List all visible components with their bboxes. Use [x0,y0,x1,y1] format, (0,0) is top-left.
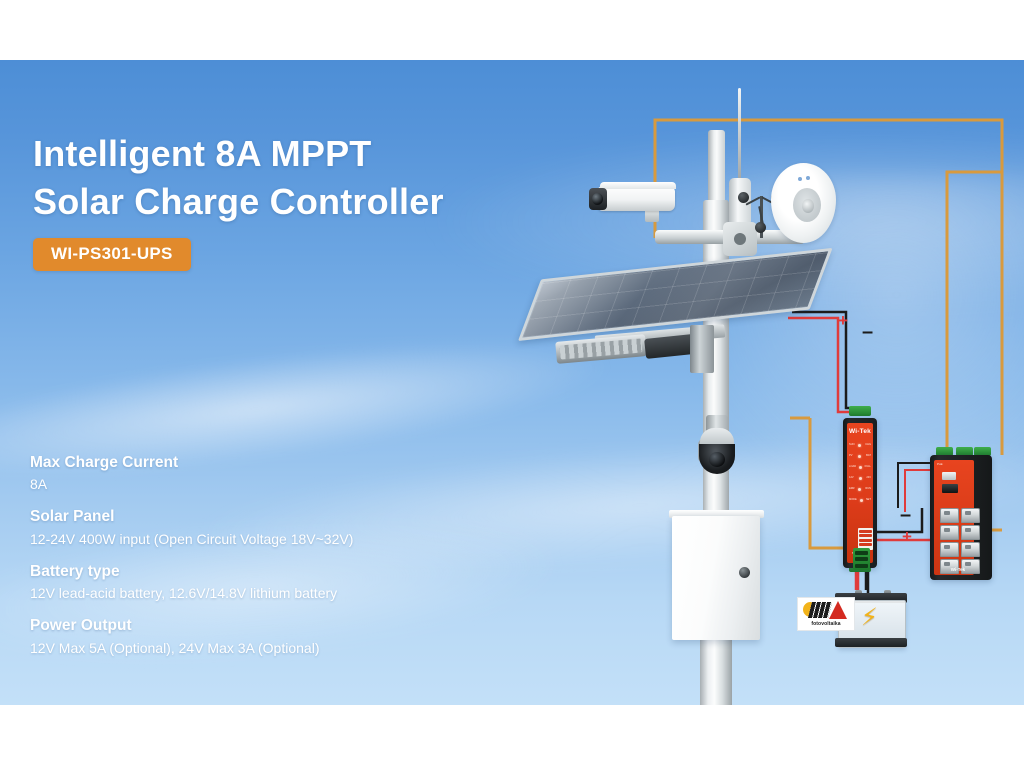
led-label: CHG [865,444,871,447]
controller-faceplate: Wi-Tek SUN CHG PV BAT LOAD FULL [847,423,873,563]
led-label: 24V [866,477,871,480]
enclosure-cabinet [672,516,760,640]
dish-antenna-led [806,176,810,180]
spec-label: Solar Panel [30,506,510,528]
polarity-sign-negative-batt: – [900,505,911,525]
dip-switch-block[interactable] [858,528,873,550]
dish-antenna-feed [802,199,814,213]
page-title: Intelligent 8A MPPT Solar Charge Control… [33,130,444,225]
dip-switch[interactable] [859,539,871,542]
terminal-screw [855,557,868,561]
triangle-icon [829,601,847,619]
led-label: LOAD [849,466,856,469]
switch-port-group [938,506,982,576]
battery-bolt-icon: ⚡ [861,606,878,630]
solar-panel-bracket [690,325,714,373]
controller-led-row: SUN CHG [849,440,871,451]
controller-led-row: LOAD FULL [849,462,871,473]
anemometer-cup [738,192,749,203]
spec-value: 12-24V 400W input (Open Circuit Voltage … [30,529,510,550]
cabinet-lock-icon [739,567,750,578]
status-led [860,499,863,502]
led-label: PV [849,455,852,458]
fotovoltaika-logo-icon [803,600,849,620]
dip-switch[interactable] [859,534,871,537]
spec-item: Max Charge Current 8A [30,452,510,495]
controller-led-row: ERR RUN [849,484,871,495]
bullet-camera-body [597,186,675,211]
terminal-screw [855,551,868,555]
switch-console-port [942,484,958,493]
spec-label: Battery type [30,561,510,583]
controller-brand-label: Wi-Tek [847,428,873,435]
dish-antenna-led [798,177,802,181]
switch-brand-label: Wi-Tek [938,567,978,572]
ethernet-port[interactable] [940,508,959,523]
spec-value: 8A [30,474,510,495]
status-led [859,477,862,480]
controller-led-row: MODE SET [849,495,871,506]
led-label: MODE [849,499,857,502]
led-label: RUN [865,488,871,491]
spec-value: 12V lead-acid battery, 12.6V/14.8V lithi… [30,583,510,604]
model-number-badge: WI-PS301-UPS [33,238,191,271]
letterbox-top [0,0,1024,60]
ethernet-port[interactable] [961,525,980,540]
status-led [859,466,862,469]
ethernet-port[interactable] [961,508,980,523]
controller-screw-terminal-block [853,548,870,570]
spec-value: 12V Max 5A (Optional), 24V Max 3A (Optio… [30,638,510,659]
terminal-screw [855,564,868,568]
switch-top-label: PoE [937,463,943,466]
switch-sfp-slot [942,472,956,480]
polarity-sign-positive-batt: + [902,528,912,545]
ptz-camera-lens [709,452,725,467]
watermark-logo: fotovoltaika [797,597,855,631]
spec-item: Battery type 12V lead-acid battery, 12.6… [30,561,510,604]
ethernet-port[interactable] [940,525,959,540]
anemometer-cup [755,222,766,233]
dip-switch[interactable] [859,543,871,546]
led-label: ERR [849,488,854,491]
polarity-sign-positive-pv: + [838,312,848,329]
spec-label: Power Output [30,615,510,637]
led-label: 12V [849,477,854,480]
letterbox-bottom [0,705,1024,768]
spec-item: Power Output 12V Max 5A (Optional), 24V … [30,615,510,658]
dip-switch[interactable] [859,530,871,533]
controller-led-row: 12V 24V [849,473,871,484]
switch-faceplate: PoE Wi-Tek [934,460,974,575]
ethernet-port[interactable] [961,542,980,557]
controller-led-panel: SUN CHG PV BAT LOAD FULL 12V 24V [849,440,871,506]
battery-base [835,638,907,647]
status-led [858,488,861,491]
bullet-camera-lens [589,188,607,210]
watermark-text: fotovoltaika [811,621,840,627]
status-led [858,455,861,458]
bullet-camera-sunshield [600,182,676,189]
spec-item: Solar Panel 12-24V 400W input (Open Circ… [30,506,510,549]
banner-stage: + – + – Wi-Tek [0,0,1024,768]
led-label: BAT [866,455,871,458]
spec-label: Max Charge Current [30,452,510,474]
controller-top-terminal-cap [849,406,871,416]
mast-joint-bracket [723,222,757,256]
solar-charge-controller: Wi-Tek SUN CHG PV BAT LOAD FULL [843,418,877,568]
controller-led-row: PV BAT [849,451,871,462]
status-led [858,444,861,447]
led-label: SET [866,499,871,502]
led-label: SUN [849,444,854,447]
poe-switch: PoE Wi-Tek [930,455,992,580]
spec-list: Max Charge Current 8A Solar Panel 12-24V… [30,452,510,670]
polarity-sign-negative-pv: – [862,322,873,342]
led-label: FULL [865,466,871,469]
ethernet-port[interactable] [940,542,959,557]
